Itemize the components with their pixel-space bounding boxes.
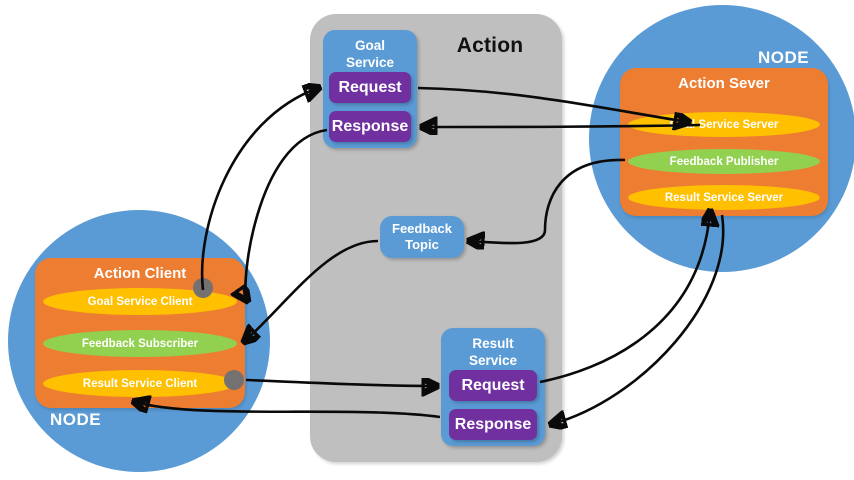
- action-client-title: Action Client: [35, 258, 245, 282]
- action-server-title: Action Sever: [620, 68, 828, 92]
- goal-service-server-pill[interactable]: Goal Service Server: [628, 112, 820, 137]
- goal-service-title-line2: Service: [346, 55, 394, 70]
- feedback-subscriber-pill[interactable]: Feedback Subscriber: [43, 330, 237, 357]
- feedback-topic-title: Feedback Topic: [380, 216, 464, 253]
- result-service-title: Result Service: [441, 328, 545, 369]
- goal-service-title-line1: Goal: [355, 38, 385, 53]
- feedback-publisher-pill[interactable]: Feedback Publisher: [628, 149, 820, 174]
- result-service-title-line1: Result: [472, 336, 513, 351]
- result-service-server-pill[interactable]: Result Service Server: [628, 185, 820, 210]
- goal-service-title: Goal Service: [323, 30, 417, 71]
- feedback-topic-title-line1: Feedback: [392, 221, 452, 236]
- goal-service-response-block[interactable]: Response: [329, 111, 411, 142]
- goal-client-connector-dot: [193, 278, 213, 298]
- result-service-title-line2: Service: [469, 353, 517, 368]
- result-service-client-pill[interactable]: Result Service Client: [43, 370, 237, 397]
- goal-service-request-block[interactable]: Request: [329, 72, 411, 103]
- feedback-topic-title-line2: Topic: [405, 237, 439, 252]
- result-service-request-block[interactable]: Request: [449, 370, 537, 401]
- node-server-label: NODE: [758, 48, 809, 68]
- feedback-topic-box[interactable]: Feedback Topic: [380, 216, 464, 258]
- result-client-connector-dot: [224, 370, 244, 390]
- result-service-response-block[interactable]: Response: [449, 409, 537, 440]
- diagram-canvas: Action Action Client Goal Service Client…: [0, 0, 854, 480]
- node-client-label: NODE: [50, 410, 101, 430]
- action-container-label: Action: [430, 34, 550, 58]
